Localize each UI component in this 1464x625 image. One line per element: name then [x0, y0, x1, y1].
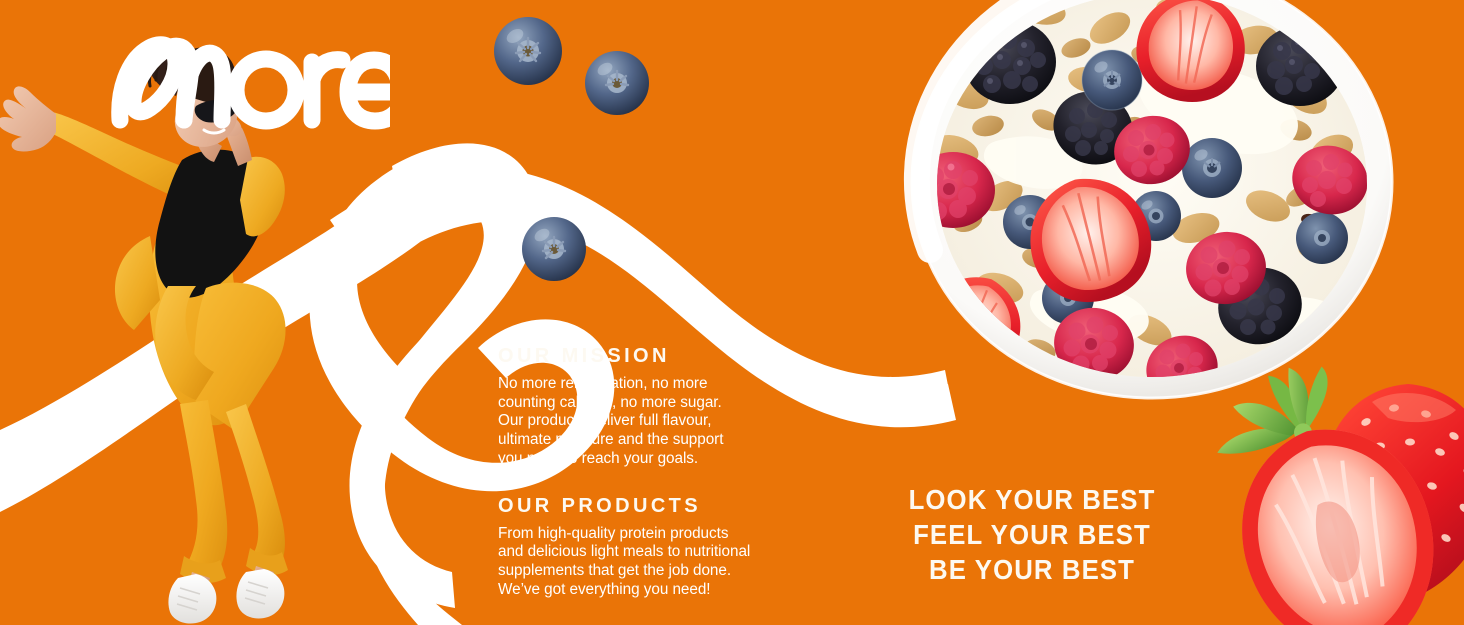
- mission-line-2: counting calories, no more sugar.: [498, 394, 722, 411]
- section-products: OUR PRODUCTS From high-quality protein p…: [498, 495, 783, 600]
- tagline-line-3: BE YOUR BEST: [830, 552, 1235, 587]
- tagline-line-2: FEEL YOUR BEST: [830, 517, 1235, 552]
- tagline-block: LOOK YOUR BEST FEEL YOUR BEST BE YOUR BE…: [812, 482, 1252, 587]
- copy-block: OUR MISSION No more renunciation, no mor…: [498, 345, 783, 599]
- mission-body: No more renunciation, no more counting c…: [498, 375, 783, 469]
- logo-wordmark: [100, 28, 390, 138]
- mission-line-5: you need to reach your goals.: [498, 450, 698, 467]
- products-line-3: supplements that get the job done.: [498, 562, 731, 579]
- mission-line-3: Our products deliver full flavour,: [498, 412, 711, 429]
- mission-heading: OUR MISSION: [498, 345, 783, 367]
- mission-line-4: ultimate pleasure and the support: [498, 431, 723, 448]
- tagline-line-1: LOOK YOUR BEST: [830, 482, 1235, 517]
- brand-logo[interactable]: [100, 28, 390, 138]
- section-mission: OUR MISSION No more renunciation, no mor…: [498, 345, 783, 469]
- mission-line-1: No more renunciation, no more: [498, 375, 707, 392]
- products-line-4: We’ve got everything you need!: [498, 581, 711, 598]
- products-line-2: and delicious light meals to nutritional: [498, 543, 750, 560]
- products-body: From high-quality protein products and d…: [498, 525, 783, 600]
- products-line-1: From high-quality protein products: [498, 525, 728, 542]
- products-heading: OUR PRODUCTS: [498, 495, 783, 517]
- brand-banner: OUR MISSION No more renunciation, no mor…: [0, 0, 1464, 625]
